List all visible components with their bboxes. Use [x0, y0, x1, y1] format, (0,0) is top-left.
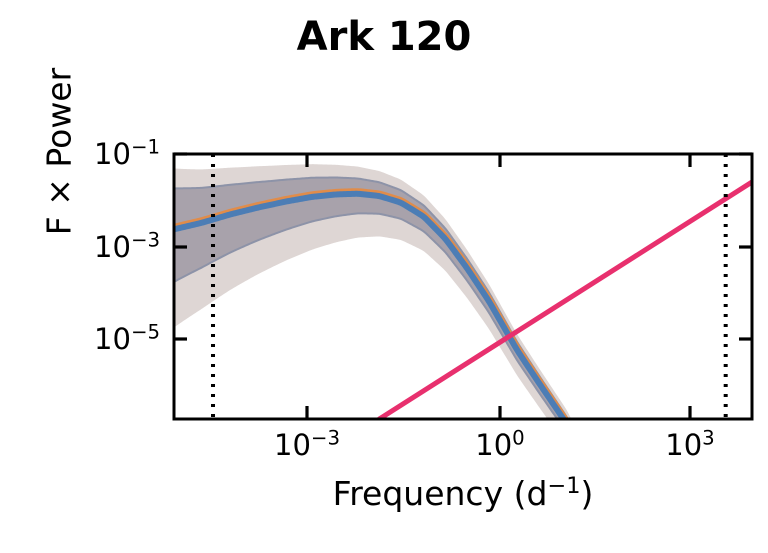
data-layer: [174, 154, 752, 553]
plot-area: [0, 0, 768, 553]
figure-canvas: Ark 120 F × Power Frequency (d−1) 10−1 1…: [0, 0, 768, 553]
